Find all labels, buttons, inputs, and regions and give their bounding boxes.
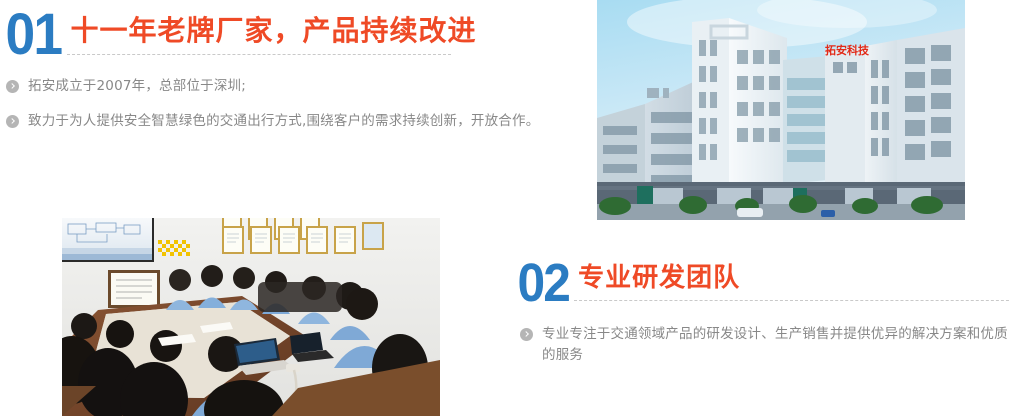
meeting-room-photo: [62, 218, 440, 416]
section-02-number: 02: [512, 258, 569, 308]
building-photo-graphic: 拓安科技: [597, 0, 965, 220]
chevron-right-circle-icon: [6, 115, 19, 128]
building-roof-sign-text: 拓安科技: [825, 43, 870, 57]
section-01-title: 十一年老牌厂家，产品持续改进: [67, 14, 565, 48]
chevron-right-circle-icon: [520, 328, 533, 341]
section-02: 02 专业研发团队 专业专注于交通领域产品的研发设计、生产销售并提供优异的解决方…: [512, 258, 1009, 366]
section-02-divider: [574, 300, 1009, 301]
section-02-title: 专业研发团队: [574, 262, 1009, 294]
bullet-text: 致力于为人提供安全智慧绿色的交通出行方式,围绕客户的需求持续创新，开放合作。: [28, 111, 539, 132]
bullet-text: 拓安成立于2007年，总部位于深圳;: [28, 76, 246, 97]
chevron-right-circle-icon: [6, 80, 19, 93]
list-item: 致力于为人提供安全智慧绿色的交通出行方式,围绕客户的需求持续创新，开放合作。: [6, 111, 565, 132]
company-intro-page: 01 十一年老牌厂家，产品持续改进 拓安成立于2007年，总部位于深圳; 致力于…: [0, 0, 1009, 416]
building-photo: 拓安科技: [597, 0, 965, 220]
section-02-bullet-list: 专业专注于交通领域产品的研发设计、生产销售并提供优异的解决方案和优质的服务: [512, 324, 1009, 366]
section-01: 01 十一年老牌厂家，产品持续改进 拓安成立于2007年，总部位于深圳; 致力于…: [0, 8, 565, 132]
section-01-divider: [67, 54, 451, 55]
section-02-header-text: 专业研发团队: [574, 258, 1009, 301]
section-01-bullet-list: 拓安成立于2007年，总部位于深圳; 致力于为人提供安全智慧绿色的交通出行方式,…: [0, 76, 565, 132]
section-01-header-text: 十一年老牌厂家，产品持续改进: [67, 8, 565, 55]
section-02-header: 02 专业研发团队: [512, 258, 1009, 308]
meeting-room-photo-graphic: [62, 218, 440, 416]
section-01-number: 01: [0, 8, 61, 62]
section-01-header: 01 十一年老牌厂家，产品持续改进: [0, 8, 565, 62]
bullet-text: 专业专注于交通领域产品的研发设计、生产销售并提供优异的解决方案和优质的服务: [542, 324, 1009, 366]
list-item: 拓安成立于2007年，总部位于深圳;: [6, 76, 565, 97]
list-item: 专业专注于交通领域产品的研发设计、生产销售并提供优异的解决方案和优质的服务: [520, 324, 1009, 366]
